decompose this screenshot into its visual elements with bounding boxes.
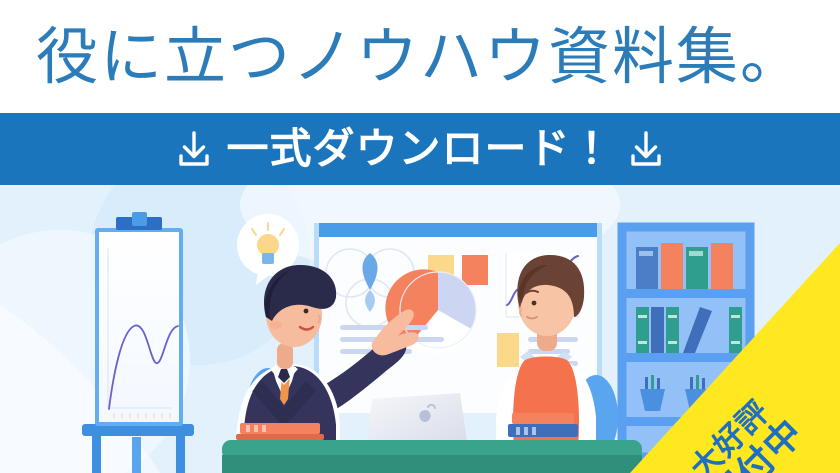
page-title: 役に立つノウハウ資料集。: [36, 26, 804, 88]
board-small-card: [497, 333, 519, 367]
stacked-books: [236, 423, 324, 440]
promo-banner: 役に立つノウハウ資料集。 一式ダウンロード！: [0, 0, 840, 473]
status-badge-ribbon: 大好評 配付中: [630, 243, 840, 473]
desk: [222, 440, 642, 473]
download-cta-label: 一式ダウンロード！: [226, 128, 613, 170]
download-cta-bar[interactable]: 一式ダウンロード！: [0, 113, 840, 185]
flipchart-easel: [82, 212, 194, 473]
download-icon: [626, 129, 666, 169]
swatch-orange: [462, 255, 488, 285]
laptop: [366, 393, 468, 447]
download-icon: [174, 129, 214, 169]
headline-area: 役に立つノウハウ資料集。: [0, 0, 840, 113]
stacked-books: [508, 413, 578, 437]
